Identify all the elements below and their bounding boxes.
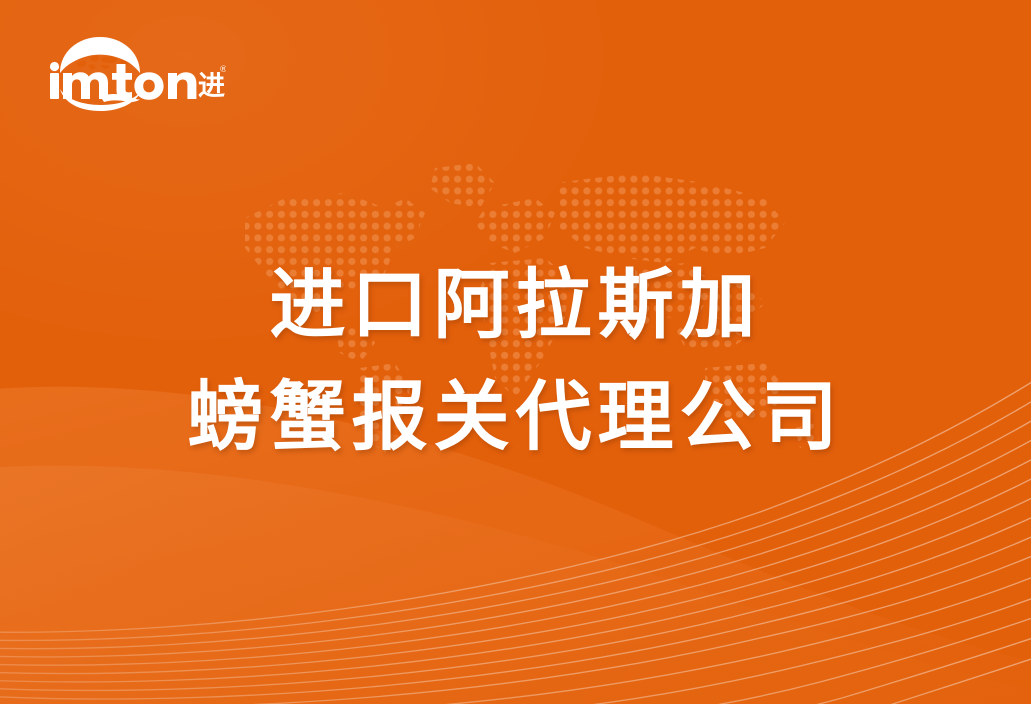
promo-banner: 进贸通 ® 进口阿拉斯加 螃蟹报关代理公司: [0, 0, 1031, 704]
trademark-icon: ®: [219, 65, 226, 75]
logo-wordmark-chinese: 进贸通: [198, 71, 226, 102]
brand-logo-svg: 进贸通 ®: [38, 27, 226, 111]
globe-icon: [60, 37, 140, 73]
headline-line-2: 螃蟹报关代理公司: [0, 370, 1031, 466]
headline-block: 进口阿拉斯加 螃蟹报关代理公司: [0, 258, 1031, 466]
headline-line-1: 进口阿拉斯加: [0, 258, 1031, 354]
brand-logo[interactable]: 进贸通 ®: [38, 27, 226, 111]
logo-wordmark-latin: [50, 62, 197, 100]
wave-shape-secondary: [0, 466, 1031, 704]
